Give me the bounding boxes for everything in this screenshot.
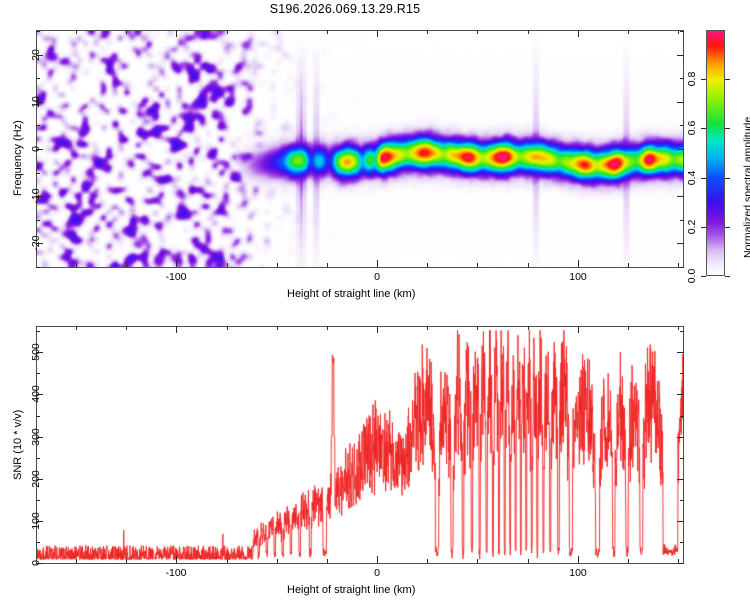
- y-tick: [680, 331, 684, 332]
- y-tick: [36, 125, 40, 126]
- y-tick: [36, 416, 40, 417]
- colorbar-tick: [725, 128, 730, 129]
- y-tick: [680, 220, 684, 221]
- x-tick: [126, 326, 127, 330]
- x-tick: [528, 326, 529, 330]
- x-tick: [277, 326, 278, 330]
- colorbar-gradient: [707, 31, 724, 275]
- y-tick: [677, 149, 684, 150]
- y-tick: [36, 267, 40, 268]
- y-tick-label: 20: [30, 49, 42, 61]
- colorbar-tick: [725, 178, 730, 179]
- colorbar: [706, 30, 725, 276]
- colorbar-tick: [701, 79, 706, 80]
- x-tick: [578, 260, 579, 267]
- y-tick: [677, 394, 684, 395]
- x-tick: [76, 326, 77, 330]
- y-tick-label: 300: [30, 428, 42, 446]
- y-tick-label: 0: [30, 146, 42, 152]
- y-tick: [677, 196, 684, 197]
- colorbar-tick: [725, 227, 730, 228]
- colorbar-tick-label: 0.6: [686, 121, 698, 136]
- figure-title: S196.2026.069.13.29.R15: [0, 2, 690, 16]
- snr-plot-area: [37, 327, 683, 563]
- colorbar-tick: [725, 79, 730, 80]
- x-tick: [477, 30, 478, 34]
- y-tick: [680, 78, 684, 79]
- y-tick-label: 0: [30, 560, 42, 566]
- y-tick: [36, 500, 40, 501]
- y-tick-label: 10: [30, 96, 42, 108]
- y-tick: [680, 31, 684, 32]
- snr-trace: [37, 327, 683, 563]
- x-tick-label: -100: [165, 271, 186, 283]
- x-tick: [377, 556, 378, 563]
- y-tick: [36, 373, 40, 374]
- x-tick: [327, 30, 328, 34]
- y-tick: [36, 173, 40, 174]
- colorbar-tick-label: 0.2: [686, 220, 698, 235]
- x-tick: [628, 559, 629, 563]
- snr-xlabel: Height of straight line (km): [287, 584, 415, 596]
- x-tick: [76, 263, 77, 267]
- y-tick: [677, 352, 684, 353]
- x-tick: [528, 559, 529, 563]
- colorbar-tick-label: 0.0: [686, 269, 698, 284]
- x-tick: [427, 30, 428, 34]
- y-tick: [36, 542, 40, 543]
- x-tick: [327, 326, 328, 330]
- y-tick: [36, 31, 40, 32]
- y-tick: [36, 331, 40, 332]
- x-tick: [477, 326, 478, 330]
- y-tick-label: 500: [30, 343, 42, 361]
- colorbar-tick: [701, 128, 706, 129]
- spectrogram-ylabel: Frequency (Hz): [12, 120, 24, 196]
- spectrogram-image: [37, 31, 683, 267]
- x-tick: [528, 30, 529, 34]
- x-tick: [578, 556, 579, 563]
- x-tick: [477, 559, 478, 563]
- y-tick: [680, 267, 684, 268]
- snr-ylabel: SNR (10 * v/v): [12, 410, 24, 480]
- y-tick: [680, 458, 684, 459]
- x-tick: [528, 263, 529, 267]
- x-tick: [628, 326, 629, 330]
- x-tick: [277, 30, 278, 34]
- x-tick: [76, 559, 77, 563]
- x-tick: [277, 559, 278, 563]
- x-tick-label: 0: [374, 567, 380, 579]
- x-tick: [427, 263, 428, 267]
- x-tick: [628, 30, 629, 34]
- colorbar-tick: [701, 276, 706, 277]
- y-tick: [680, 542, 684, 543]
- x-tick: [126, 263, 127, 267]
- x-tick: [176, 326, 177, 333]
- x-tick: [327, 559, 328, 563]
- colorbar-tick: [701, 178, 706, 179]
- colorbar-tick-label: 0.4: [686, 171, 698, 186]
- y-tick-label: 400: [30, 385, 42, 403]
- x-tick: [427, 326, 428, 330]
- colorbar-tick-label: 0.8: [686, 72, 698, 87]
- figure-root: S196.2026.069.13.29.R15 -1000100-20-1001…: [0, 0, 750, 600]
- x-tick: [327, 263, 328, 267]
- y-tick: [677, 102, 684, 103]
- x-tick: [628, 263, 629, 267]
- y-tick: [680, 416, 684, 417]
- y-tick: [677, 479, 684, 480]
- y-tick: [680, 373, 684, 374]
- x-tick: [126, 30, 127, 34]
- x-tick: [277, 263, 278, 267]
- y-tick-label: -20: [30, 235, 42, 250]
- x-tick: [578, 326, 579, 333]
- y-tick-label: 200: [30, 470, 42, 488]
- y-tick: [680, 500, 684, 501]
- x-tick: [678, 30, 679, 34]
- x-tick: [678, 326, 679, 330]
- y-tick: [680, 125, 684, 126]
- y-tick: [36, 78, 40, 79]
- y-tick: [677, 563, 684, 564]
- x-tick: [427, 559, 428, 563]
- y-tick-label: 100: [30, 512, 42, 530]
- spectrogram-panel: [36, 30, 684, 268]
- spectrogram-xlabel: Height of straight line (km): [287, 288, 415, 300]
- x-tick-label: 100: [569, 567, 587, 579]
- colorbar-tick: [701, 227, 706, 228]
- x-tick: [377, 326, 378, 333]
- spectrogram-plot-area: [37, 31, 683, 267]
- y-tick: [677, 437, 684, 438]
- x-tick-label: 0: [374, 271, 380, 283]
- x-tick: [477, 263, 478, 267]
- x-tick: [126, 559, 127, 563]
- x-tick: [377, 260, 378, 267]
- x-tick: [227, 263, 228, 267]
- y-tick: [680, 173, 684, 174]
- colorbar-tick: [725, 276, 730, 277]
- x-tick-label: 100: [569, 271, 587, 283]
- x-tick: [678, 263, 679, 267]
- x-tick: [578, 30, 579, 37]
- x-tick: [176, 30, 177, 37]
- y-tick: [36, 458, 40, 459]
- snr-panel: [36, 326, 684, 564]
- x-tick: [377, 30, 378, 37]
- x-tick: [227, 326, 228, 330]
- x-tick-label: -100: [165, 567, 186, 579]
- y-tick: [677, 55, 684, 56]
- y-tick: [677, 521, 684, 522]
- y-tick: [677, 243, 684, 244]
- y-tick: [36, 220, 40, 221]
- x-tick: [176, 556, 177, 563]
- x-tick: [227, 559, 228, 563]
- colorbar-label: Normalized spectral amplitude: [742, 117, 750, 258]
- x-tick: [76, 30, 77, 34]
- x-tick: [176, 260, 177, 267]
- y-tick-label: -10: [30, 188, 42, 203]
- x-tick: [227, 30, 228, 34]
